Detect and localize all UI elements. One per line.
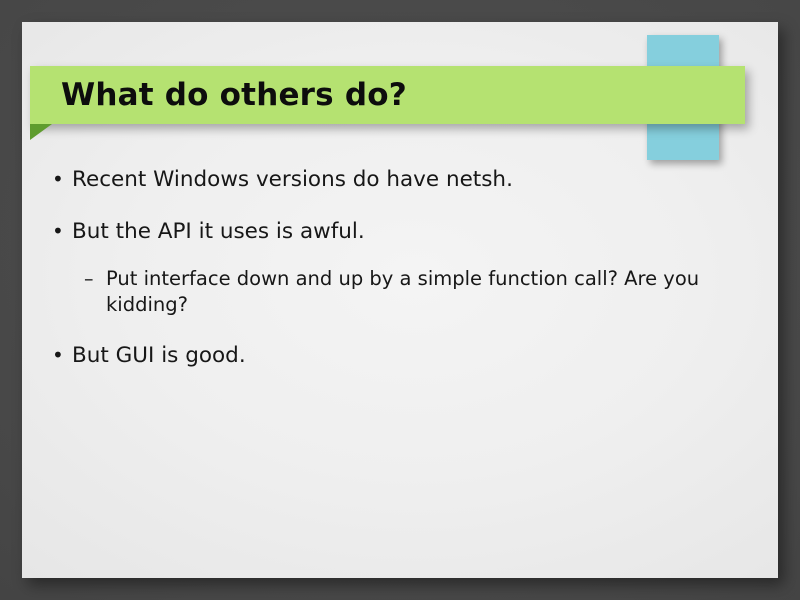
bullet-text: But GUI is good. — [72, 341, 760, 370]
sub-bullet-marker: – — [84, 266, 106, 292]
bullet-marker: • — [48, 165, 72, 194]
bullet-marker: • — [48, 217, 72, 246]
bullet-text: But the API it uses is awful. — [72, 217, 760, 246]
title-banner: What do others do? — [30, 66, 745, 124]
list-item: • Recent Windows versions do have netsh. — [48, 165, 760, 194]
sub-list-item: – Put interface down and up by a simple … — [84, 266, 760, 318]
slide-canvas: What do others do? • Recent Windows vers… — [22, 22, 778, 578]
bullet-marker: • — [48, 341, 72, 370]
slide-title: What do others do? — [61, 77, 407, 113]
banner-fold-triangle — [30, 124, 52, 140]
slide-body: • Recent Windows versions do have netsh.… — [48, 142, 760, 370]
sub-bullet-text: Put interface down and up by a simple fu… — [106, 266, 760, 318]
presentation-root: What do others do? • Recent Windows vers… — [0, 0, 800, 600]
list-item: • But the API it uses is awful. — [48, 217, 760, 246]
list-item: • But GUI is good. — [48, 341, 760, 370]
bullet-text: Recent Windows versions do have netsh. — [72, 165, 760, 194]
